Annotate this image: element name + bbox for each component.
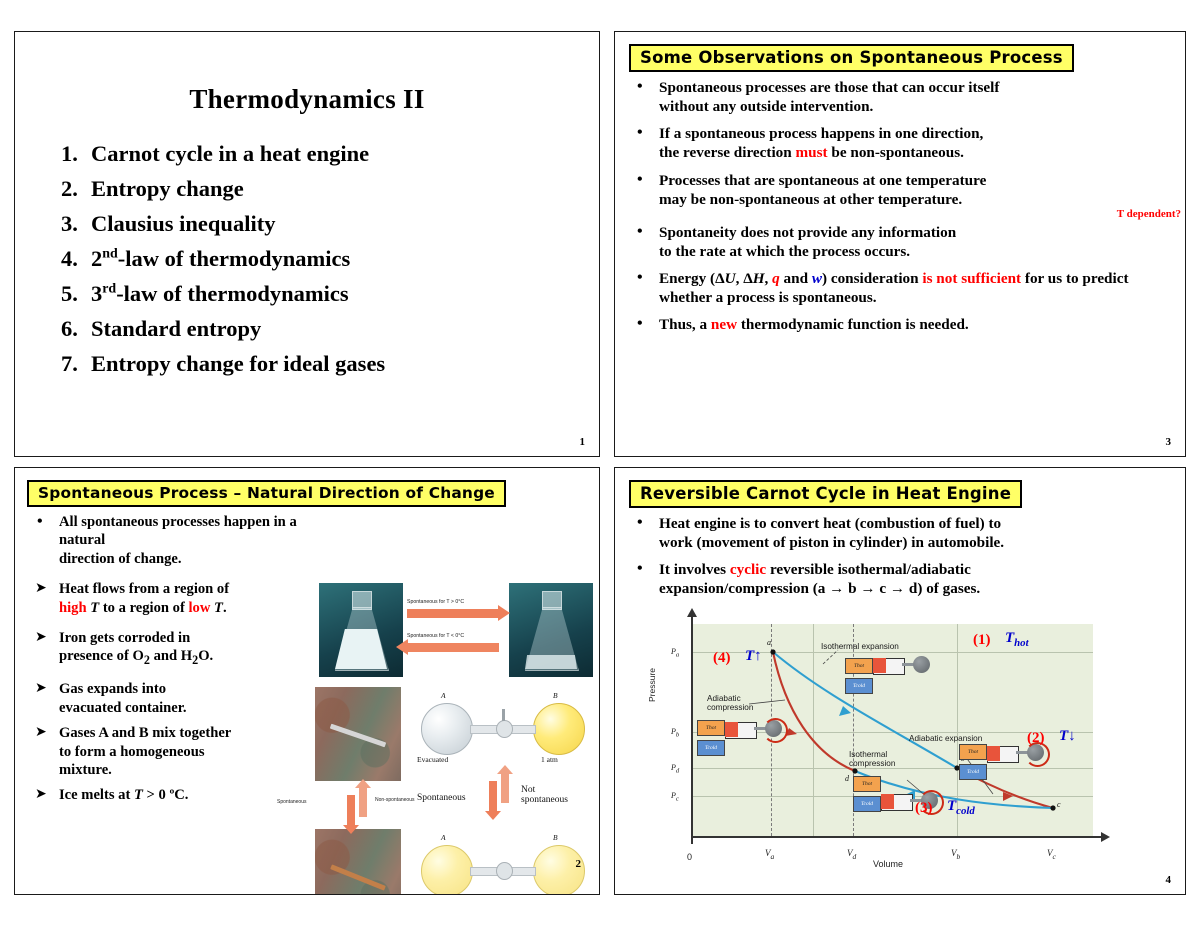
flask-icon [335,591,387,669]
bullet-dot-icon: • [637,170,643,190]
bullet-dot-icon: • [637,268,643,288]
piston-icon-isothermal-expansion: Thot Tcold [845,658,903,680]
list-text: Clausius inequality [91,211,275,236]
emphasis-new: new [711,316,737,333]
list-item: 1.Carnot cycle in a heat engine [61,141,599,167]
list-item: ➤ Iron gets corroded inpresence of O2 an… [33,629,305,669]
point-label-a: a [767,638,771,647]
y-tick-pb: Pb [671,727,679,739]
side-note-t-dependent: T dependent? [1117,208,1181,222]
reservoir-cold-label: Tcold [959,764,987,780]
slide-number: 4 [1166,874,1172,886]
list-item: • Heat engine is to convert heat (combus… [633,514,1175,552]
slide-number: 1 [580,436,586,448]
step-2-label: T↓ [1059,728,1068,745]
x-axis-label: Volume [873,859,903,869]
list-text: Standard entropy [91,316,261,341]
slide-observations: Some Observations on Spontaneous Process… [614,31,1186,457]
list-number: 6. [61,316,91,342]
list-item: ➤ Ice melts at T > 0 ºC. [33,786,305,804]
annotation-isothermal-compression: Isothermal compression [849,750,899,768]
y-tick-pc: Pc [671,791,679,803]
y-axis-label: Pressure [647,668,657,702]
list-item: • Thus, a new thermodynamic function is … [633,315,1175,334]
annotation-isothermal-expansion: Isothermal expansion [821,642,899,651]
slide-number: 3 [1166,436,1172,448]
step-3-label: Tcold [947,798,975,817]
bullet-dot-icon: • [637,314,643,334]
axis-origin-label: 0 [687,852,692,862]
bulb-a-shape [421,703,473,755]
bulb-state-A: Evacuated [417,755,448,764]
step-1-label: Thot [1005,630,1029,649]
bulb-a-shape [421,845,473,895]
bulb-label-A: A [441,691,446,700]
list-item: • Processes that are spontaneous at one … [633,171,1175,209]
list-item: 2.Entropy change [61,176,599,202]
reservoir-cold-label: Tcold [697,740,725,756]
rust-label-nonspontaneous: Non-spontaneous [375,797,415,803]
annotation-adiabatic-compression: Adiabatic compression [707,694,765,712]
bulb-label-spontaneous: Spontaneous [417,793,466,803]
bulb-b-shape [533,845,585,895]
reservoir-hot-label: Thot [959,744,987,760]
arrow-left-icon [407,643,499,652]
reservoir-cold-label: Tcold [845,678,873,694]
chart-plot-area: a b c d Isothermal expansion Adiabatic c… [693,624,1093,836]
list-number: 4. [61,246,91,272]
list-text-post: -law of thermodynamics [116,281,348,306]
x-tick-va: Va [765,848,774,861]
x-axis [691,836,1101,838]
bullet-dot-icon: • [637,123,643,143]
arrow-down-icon [347,795,355,825]
bullet-dot-icon: • [637,559,643,579]
piston-icon-isothermal-compression: Thot Tcold [853,776,911,798]
emphasis-low: low [188,600,210,616]
arrow-up-icon [359,787,367,817]
step-3-number: (3) [915,800,933,817]
list-text: Entropy change [91,176,244,201]
figure-spontaneous-examples: Spontaneous for T > 0°C Spontaneous for … [313,583,595,895]
bulb-row-top: A B Evacuated 1 atm [413,693,595,767]
bulb-state-B: 1 atm [541,755,558,764]
page-title: Thermodynamics II [15,84,599,115]
flask-arrow-label-bottom: Spontaneous for T < 0°C [407,633,464,639]
annotation-adiabatic-expansion: Adiabatic expansion [909,734,982,743]
step-4-number: (4) [713,650,731,667]
photo-flask-frozen [319,583,403,677]
list-number: 1. [61,141,91,167]
vertical-arrow-pair [345,787,373,827]
arrow-bullet-icon: ➤ [35,786,47,804]
arrow-down-icon [489,781,497,811]
bulb-label-B: B [553,833,558,842]
bulb-label-B: B [553,691,558,700]
list-text: Entropy change for ideal gases [91,351,385,376]
arrow-bullet-icon: ➤ [35,580,47,598]
slide-carnot-cycle: Reversible Carnot Cycle in Heat Engine •… [614,467,1186,895]
bulb-row-bottom: A B 0.5 atm 0.5 atm [413,835,595,895]
x-tick-vd: Vd [847,848,856,861]
list-number: 2. [61,176,91,202]
slide-spontaneous-process: Spontaneous Process – Natural Direction … [14,467,600,895]
list-text: 2 [91,246,102,271]
reservoir-hot-label: Thot [845,658,873,674]
arrow-bullet-icon: ➤ [35,724,47,742]
list-item: 3.Clausius inequality [61,211,599,237]
arrow-up-icon [501,773,509,803]
bullet-dot-icon: • [37,512,43,532]
list-text-post: -law of thermodynamics [118,246,350,271]
slide-banner-title: Reversible Carnot Cycle in Heat Engine [629,480,1022,508]
list-item: 4.2nd-law of thermodynamics [61,246,599,272]
bullet-list: • Heat engine is to convert heat (combus… [615,514,1185,599]
symbol-w: w [812,270,822,287]
photo-flask-liquid [509,583,593,677]
piston-icon-adiabatic-expansion: Thot Tcold [959,744,1017,766]
piston-icon-adiabatic-compression: Thot Tcold [697,720,755,742]
photo-clean-nail [315,687,401,781]
list-item: • If a spontaneous process happens in on… [633,124,1175,162]
flask-arrow-label-top: Spontaneous for T > 0°C [407,599,464,605]
list-item: ➤ Heat flows from a region ofhigh T to a… [33,580,305,617]
slide-number: 2 [576,858,582,870]
list-number: 7. [61,351,91,377]
figure-gas-expansion: A B Evacuated 1 atm [413,683,595,895]
slide-grid: Thermodynamics II 1.Carnot cycle in a he… [14,31,1186,895]
chart-carnot-pv-diagram: a b c d Isothermal expansion Adiabatic c… [645,616,1143,876]
y-tick-pa: Pa [671,647,679,659]
valve-icon [496,720,513,738]
arrow-bullet-icon: ➤ [35,680,47,698]
list-item: • Spontaneous processes are those that c… [633,78,1175,116]
figure-rusting-nail: Spontaneous Non-spontaneous [315,687,401,895]
list-item: 5.3rd-law of thermodynamics [61,281,599,307]
list-number: 5. [61,281,91,307]
slide-title: Thermodynamics II 1.Carnot cycle in a he… [14,31,600,457]
bullet-list: • All spontaneous processes happen in a … [15,513,315,805]
list-number: 3. [61,211,91,237]
step-1-number: (1) [973,632,991,649]
x-tick-vc: Vc [1047,848,1056,861]
valve-stem [502,709,505,721]
point-label-c: c [1057,800,1061,809]
y-axis [691,616,693,844]
bulb-label-A: A [441,833,446,842]
nail-shape [330,724,386,748]
nail-shape [330,864,386,890]
point-label-d: d [845,774,849,783]
step-4-label: T↑ [745,648,754,665]
arrow-right-icon [407,609,499,618]
rust-label-spontaneous: Spontaneous [277,799,306,805]
list-text: Carnot cycle in a heat engine [91,141,369,166]
emphasis-must: must [796,144,828,161]
emphasis-cyclic: cyclic [730,561,766,578]
photo-rusted-nail [315,829,401,895]
symbol-q: q [772,270,780,287]
bulb-label-not-spontaneous: Not spontaneous [521,785,583,805]
reservoir-cold-label: Tcold [853,796,881,812]
list-item: ➤ Gas expands intoevacuated container. [33,680,305,717]
bulb-b-shape [533,703,585,755]
ordinal-suffix: rd [102,282,116,297]
arrow-bullet-icon: ➤ [35,629,47,647]
list-item: • Energy (ΔU, ΔH, q and w) consideration… [633,269,1175,307]
step-2-number: (2) [1027,730,1045,747]
y-tick-pd: Pd [671,763,679,775]
reservoir-hot-label: Thot [697,720,725,736]
bulb-arrow-group: Spontaneous Not spontaneous [413,771,595,829]
slide-banner-title: Spontaneous Process – Natural Direction … [27,480,506,507]
emphasis-high: high [59,600,87,616]
list-item: 6.Standard entropy [61,316,599,342]
bullet-dot-icon: • [637,513,643,533]
slide-banner-title: Some Observations on Spontaneous Process [629,44,1074,72]
bullet-list: • Spontaneous processes are those that c… [615,78,1185,335]
x-tick-vb: Vb [951,848,960,861]
bullet-dot-icon: • [637,77,643,97]
list-item: • All spontaneous processes happen in a … [33,513,305,568]
list-item: 7.Entropy change for ideal gases [61,351,599,377]
figure-flask-pair: Spontaneous for T > 0°C Spontaneous for … [319,583,597,677]
flask-icon [525,591,577,669]
ordinal-suffix: nd [102,247,118,262]
slide-handout-page: Thermodynamics II 1.Carnot cycle in a he… [0,0,1200,927]
emphasis-is-not-sufficient: is not sufficient [922,270,1021,287]
valve-icon [496,862,513,880]
list-item: • Spontaneity does not provide any infor… [633,223,1175,261]
reservoir-hot-label: Thot [853,776,881,792]
list-item: • It involves cyclic reversible isotherm… [633,560,1175,598]
table-of-contents: 1.Carnot cycle in a heat engine 2.Entrop… [15,141,599,377]
list-text: 3 [91,281,102,306]
bullet-dot-icon: • [637,222,643,242]
